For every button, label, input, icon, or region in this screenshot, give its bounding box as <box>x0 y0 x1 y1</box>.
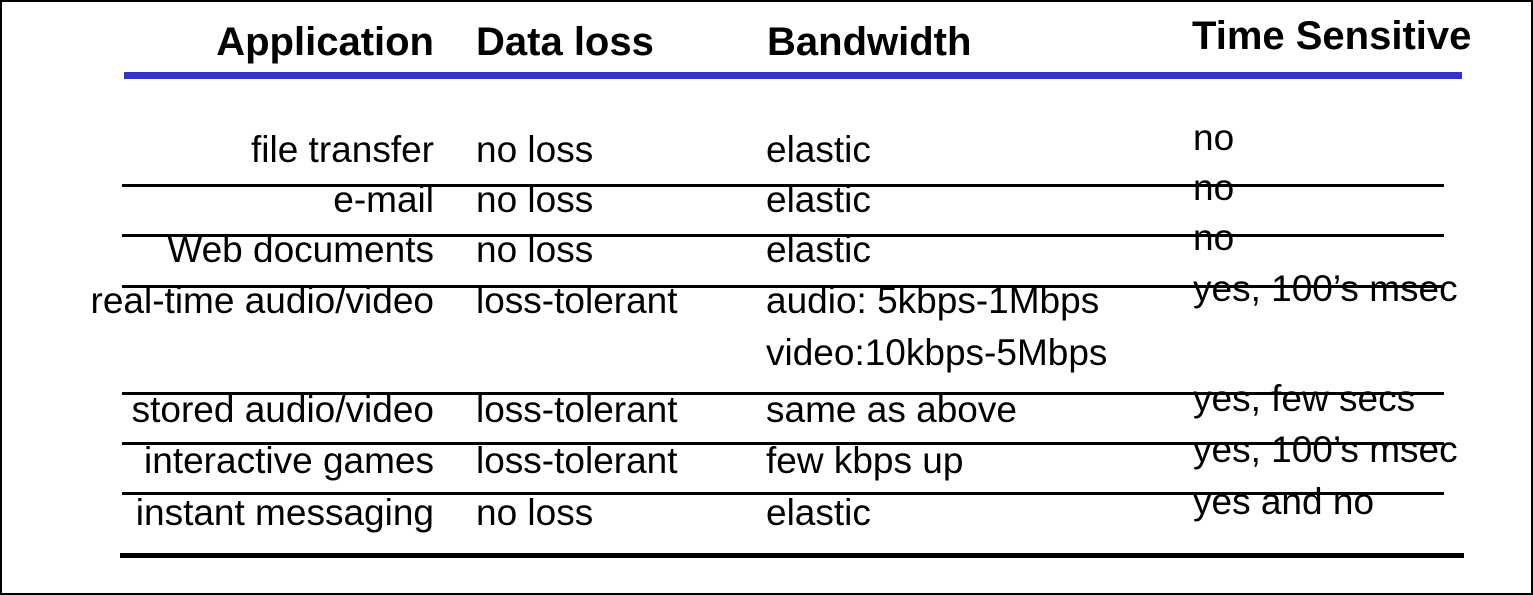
table-cell-time-sensitive: yes, 100’s msec <box>1193 428 1458 472</box>
table-cell-bandwidth: audio: 5kbps-1Mbps <box>766 279 1099 323</box>
table-cell-bandwidth: few kbps up <box>766 439 963 483</box>
column-header-time-sensitive: Time Sensitive <box>1192 16 1471 56</box>
table-cell-time-sensitive: no <box>1193 116 1234 160</box>
table-cell-time-sensitive: no <box>1193 166 1234 210</box>
table-cell-data-loss: no loss <box>476 178 593 222</box>
column-header-application: Application <box>190 22 434 62</box>
table-cell-bandwidth: same as above <box>766 388 1017 432</box>
table-cell-time-sensitive: yes, 100’s msec <box>1193 267 1458 311</box>
table-row: stored audio/video <box>2 388 434 432</box>
table-cell-data-loss: loss-tolerant <box>476 388 678 432</box>
table-row: Web documents <box>2 228 434 272</box>
table-cell-data-loss: loss-tolerant <box>476 279 678 323</box>
column-header-data-loss: Data loss <box>476 22 654 62</box>
table-cell-bandwidth: elastic <box>766 491 871 535</box>
table-cell-data-loss: loss-tolerant <box>476 439 678 483</box>
table-cell-data-loss: no loss <box>476 228 593 272</box>
table-row: instant messaging <box>2 491 434 535</box>
table-cell-bandwidth-line2: video:10kbps-5Mbps <box>766 331 1107 375</box>
table-row: real-time audio/video <box>0 279 434 323</box>
column-header-bandwidth: Bandwidth <box>767 22 971 62</box>
table-row: e-mail <box>2 178 434 222</box>
table-cell-bandwidth: elastic <box>766 228 871 272</box>
table-cell-bandwidth: elastic <box>766 128 871 172</box>
table-cell-time-sensitive: yes and no <box>1193 480 1374 524</box>
table-cell-data-loss: no loss <box>476 491 593 535</box>
table-bottom-divider <box>120 553 1464 558</box>
header-underline <box>124 72 1462 79</box>
table-cell-time-sensitive: yes, few secs <box>1193 377 1415 421</box>
table-row: file transfer <box>2 128 434 172</box>
table-cell-time-sensitive: no <box>1193 216 1234 260</box>
slide-canvas: Application Data loss Bandwidth Time Sen… <box>0 0 1533 595</box>
table-cell-bandwidth: elastic <box>766 178 871 222</box>
table-cell-data-loss: no loss <box>476 128 593 172</box>
table-row: interactive games <box>2 439 434 483</box>
